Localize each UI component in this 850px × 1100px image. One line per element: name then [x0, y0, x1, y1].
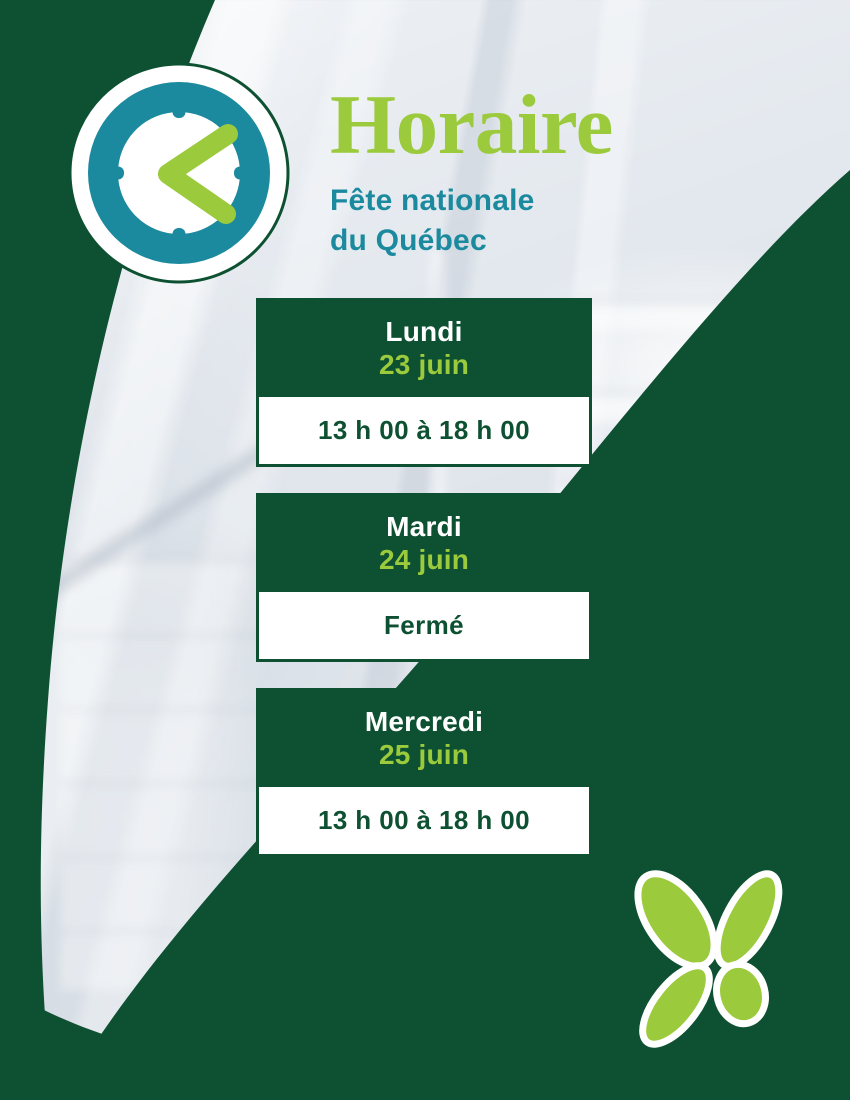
page-title: Horaire [330, 84, 730, 167]
schedule-date-label: 24 juin [266, 543, 582, 576]
schedule-card: Lundi 23 juin 13 h 00 à 18 h 00 [256, 298, 592, 467]
schedule-day-label: Mardi [266, 510, 582, 543]
clock-icon [68, 62, 290, 284]
schedule-hours-label: Fermé [384, 610, 464, 641]
schedule-card-body: Fermé [256, 592, 592, 662]
schedule-card: Mardi 24 juin Fermé [256, 493, 592, 662]
schedule-hours-label: 13 h 00 à 18 h 00 [318, 415, 530, 446]
schedule-card-header: Mercredi 25 juin [256, 688, 592, 787]
page-subtitle: Fête nationale du Québec [330, 181, 730, 261]
poster-canvas: Horaire Fête nationale du Québec Lundi 2… [0, 0, 850, 1100]
schedule-date-label: 25 juin [266, 738, 582, 771]
schedule-card-header: Lundi 23 juin [256, 298, 592, 397]
schedule-date-label: 23 juin [266, 348, 582, 381]
subtitle-line-2: du Québec [330, 221, 730, 261]
schedule-hours-label: 13 h 00 à 18 h 00 [318, 805, 530, 836]
schedule-card-body: 13 h 00 à 18 h 00 [256, 397, 592, 467]
schedule-card-header: Mardi 24 juin [256, 493, 592, 592]
schedule-day-label: Lundi [266, 315, 582, 348]
schedule-list: Lundi 23 juin 13 h 00 à 18 h 00 Mardi 24… [256, 298, 592, 883]
schedule-day-label: Mercredi [266, 705, 582, 738]
header-text-block: Horaire Fête nationale du Québec [330, 84, 730, 261]
subtitle-line-1: Fête nationale [330, 181, 730, 221]
schedule-card: Mercredi 25 juin 13 h 00 à 18 h 00 [256, 688, 592, 857]
butterfly-logo-icon [620, 862, 805, 1062]
schedule-card-body: 13 h 00 à 18 h 00 [256, 787, 592, 857]
